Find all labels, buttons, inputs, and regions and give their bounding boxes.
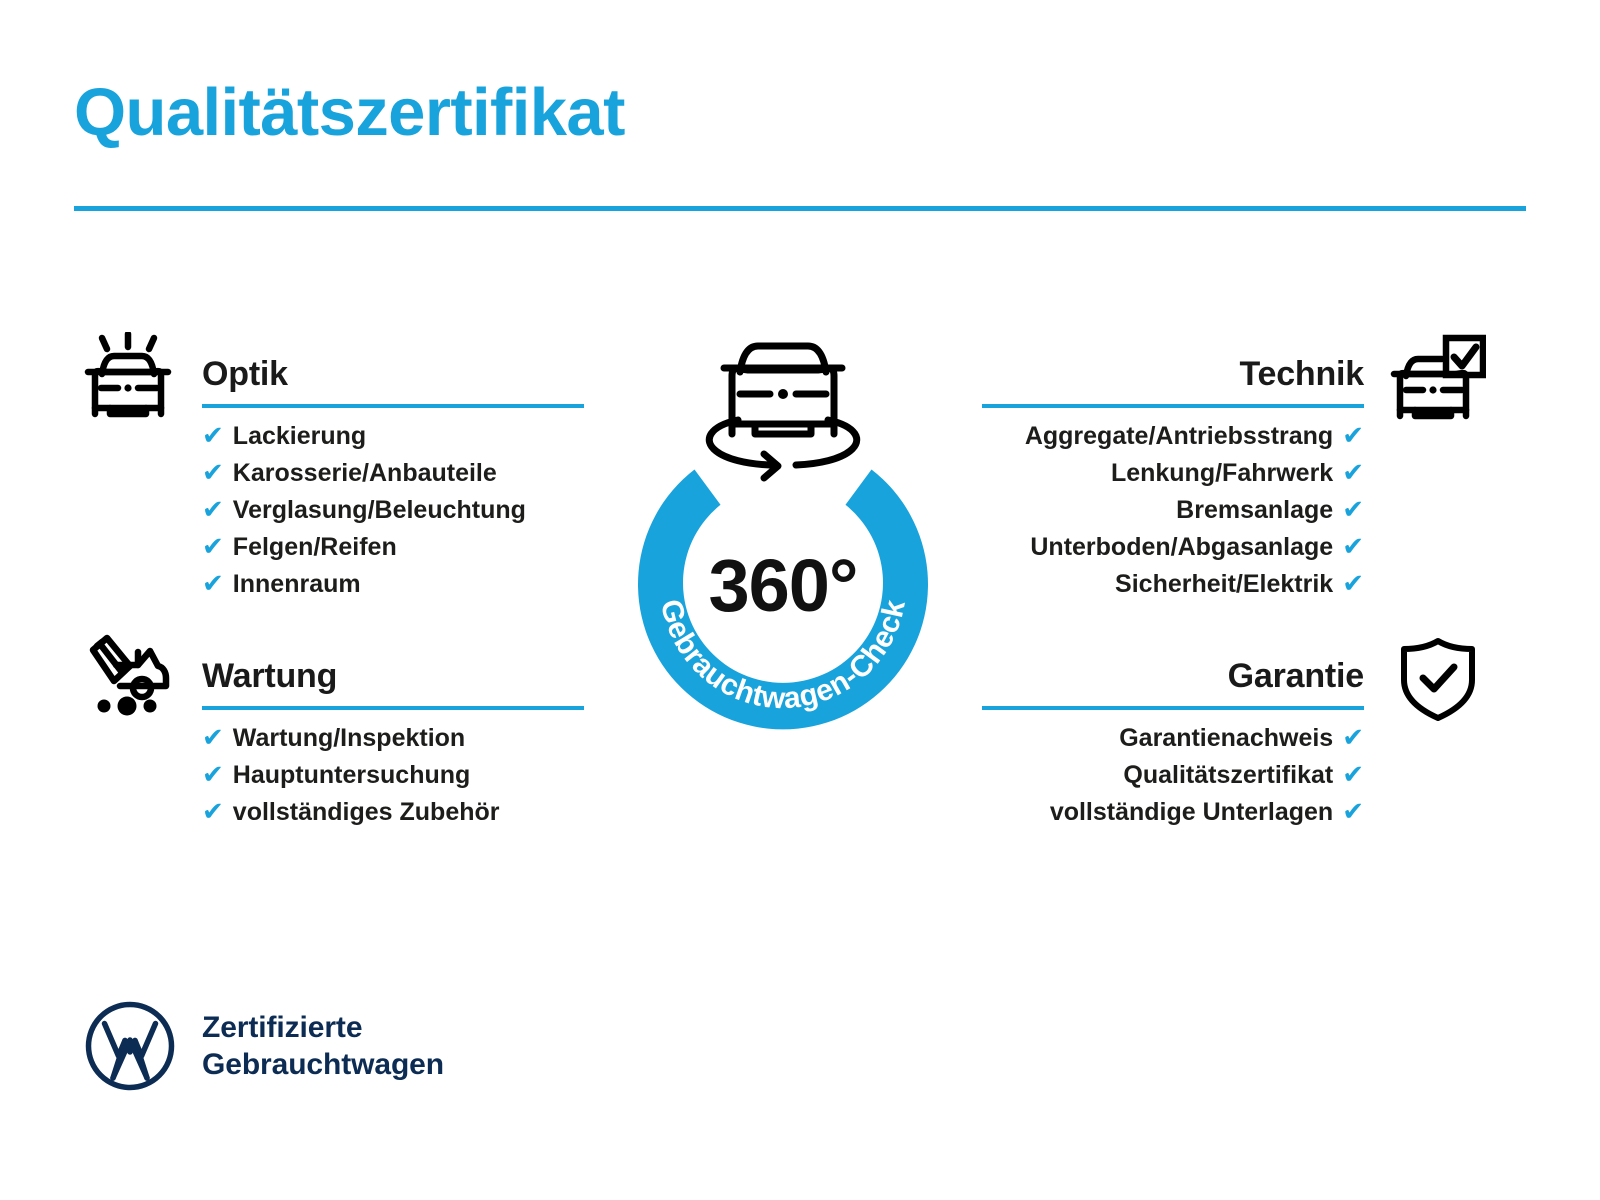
list-item-label: Aggregate/Antriebsstrang [1025, 424, 1333, 449]
check-icon: ✔ [202, 533, 224, 559]
check-icon: ✔ [202, 798, 224, 824]
car-service-pencil-icon [74, 632, 182, 724]
section-wartung: Wartung ✔Wartung/Inspektion ✔Hauptunters… [74, 632, 584, 835]
car-front-headlights-icon [74, 330, 182, 422]
section-garantie-header: Garantie [982, 632, 1492, 724]
list-item-label: Wartung/Inspektion [233, 726, 465, 751]
section-technik-header: Technik [982, 330, 1492, 422]
check-icon: ✔ [202, 459, 224, 485]
footer-brand-words: Zertifizierte Gebrauchtwagen [202, 1009, 444, 1084]
check-icon: ✔ [1342, 761, 1364, 787]
section-optik-title: Optik [202, 355, 288, 394]
check-icon: ✔ [1342, 533, 1364, 559]
check-icon: ✔ [202, 570, 224, 596]
list-item: ✔Wartung/Inspektion [202, 724, 584, 761]
section-technik-title: Technik [1239, 355, 1364, 394]
section-wartung-underline [202, 706, 584, 710]
list-item: ✔Lackierung [202, 422, 584, 459]
list-item: Qualitätszertifikat✔ [982, 761, 1364, 798]
section-wartung-header: Wartung [74, 632, 584, 724]
check-icon: ✔ [202, 761, 224, 787]
section-optik-header: Optik [74, 330, 584, 422]
list-item-label: Innenraum [233, 572, 361, 597]
check-icon: ✔ [1342, 496, 1364, 522]
list-item: ✔Felgen/Reifen [202, 533, 584, 570]
list-item-label: Karosserie/Anbauteile [233, 461, 497, 486]
list-item: ✔Hauptuntersuchung [202, 761, 584, 798]
list-item: Unterboden/Abgasanlage✔ [982, 533, 1364, 570]
list-item-label: Unterboden/Abgasanlage [1030, 535, 1333, 560]
badge-center-label: 360° [708, 544, 857, 627]
certificate-page: Qualitätszertifikat [0, 0, 1600, 1200]
footer-brand-line2: Gebrauchtwagen [202, 1048, 444, 1081]
title-divider [74, 206, 1526, 211]
vw-logo-icon [84, 1000, 176, 1092]
list-item: ✔Karosserie/Anbauteile [202, 459, 584, 496]
section-garantie-underline [982, 706, 1364, 710]
check-icon: ✔ [1342, 570, 1364, 596]
check-icon: ✔ [202, 724, 224, 750]
car-front-checkbox-icon [1384, 330, 1492, 422]
list-item-label: Felgen/Reifen [233, 535, 397, 560]
list-item-label: Lenkung/Fahrwerk [1111, 461, 1333, 486]
car-front-rotate-icon [709, 346, 856, 478]
list-item-label: Garantienachweis [1119, 726, 1333, 751]
list-item: Lenkung/Fahrwerk✔ [982, 459, 1364, 496]
list-item: ✔Innenraum [202, 570, 584, 607]
list-item-label: Hauptuntersuchung [233, 763, 471, 788]
section-garantie-title: Garantie [1228, 657, 1364, 696]
list-item: ✔vollständiges Zubehör [202, 798, 584, 835]
section-technik: Technik Aggregate/Antriebsstrang✔ Lenkun… [982, 330, 1492, 607]
section-technik-list: Aggregate/Antriebsstrang✔ Lenkung/Fahrwe… [982, 422, 1492, 607]
list-item-label: vollständiges Zubehör [233, 800, 500, 825]
list-item-label: Qualitätszertifikat [1123, 763, 1333, 788]
check-icon: ✔ [202, 496, 224, 522]
section-technik-underline [982, 404, 1364, 408]
section-garantie: Garantie Garantienachweis✔ Qualitätszert… [982, 632, 1492, 835]
shield-check-icon [1384, 632, 1492, 724]
list-item: Garantienachweis✔ [982, 724, 1364, 761]
page-title: Qualitätszertifikat [74, 78, 625, 148]
check-icon: ✔ [1342, 422, 1364, 448]
section-optik-underline [202, 404, 584, 408]
list-item: vollständige Unterlagen✔ [982, 798, 1364, 835]
list-item-label: vollständige Unterlagen [1050, 800, 1333, 825]
section-wartung-list: ✔Wartung/Inspektion ✔Hauptuntersuchung ✔… [74, 724, 584, 835]
list-item: Sicherheit/Elektrik✔ [982, 570, 1364, 607]
list-item: ✔Verglasung/Beleuchtung [202, 496, 584, 533]
section-optik-list: ✔Lackierung ✔Karosserie/Anbauteile ✔Verg… [74, 422, 584, 607]
section-wartung-title: Wartung [202, 657, 337, 696]
list-item-label: Bremsanlage [1176, 498, 1333, 523]
check-icon: ✔ [1342, 798, 1364, 824]
list-item: Aggregate/Antriebsstrang✔ [982, 422, 1364, 459]
check-icon: ✔ [1342, 459, 1364, 485]
section-optik: Optik ✔Lackierung ✔Karosserie/Anbauteile… [74, 330, 584, 607]
section-garantie-list: Garantienachweis✔ Qualitätszertifikat✔ v… [982, 724, 1492, 835]
list-item: Bremsanlage✔ [982, 496, 1364, 533]
badge-360-gebrauchtwagen-check: Gebrauchtwagen-Check 360° [598, 308, 968, 778]
footer-brand-line1: Zertifizierte [202, 1011, 362, 1044]
footer-brand: Zertifizierte Gebrauchtwagen [84, 1000, 444, 1092]
list-item-label: Lackierung [233, 424, 366, 449]
list-item-label: Verglasung/Beleuchtung [233, 498, 526, 523]
check-icon: ✔ [202, 422, 224, 448]
list-item-label: Sicherheit/Elektrik [1115, 572, 1333, 597]
check-icon: ✔ [1342, 724, 1364, 750]
